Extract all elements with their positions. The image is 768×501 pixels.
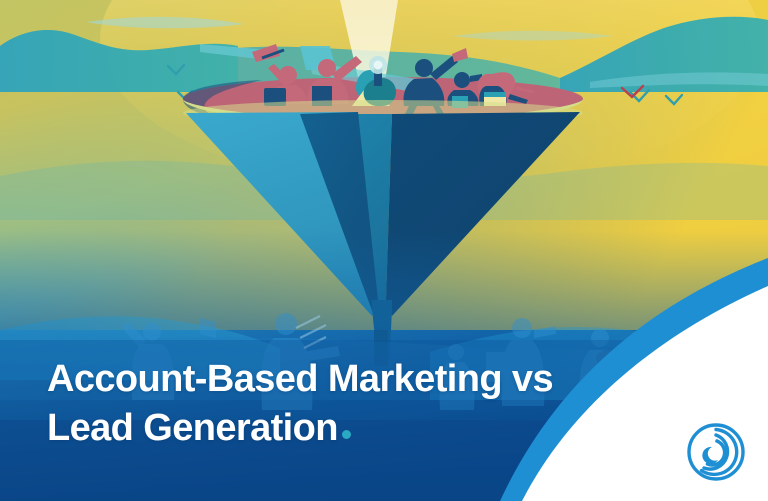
funnel-illustration	[0, 0, 768, 501]
hero-banner: Account-Based Marketing vs Lead Generati…	[0, 0, 768, 501]
